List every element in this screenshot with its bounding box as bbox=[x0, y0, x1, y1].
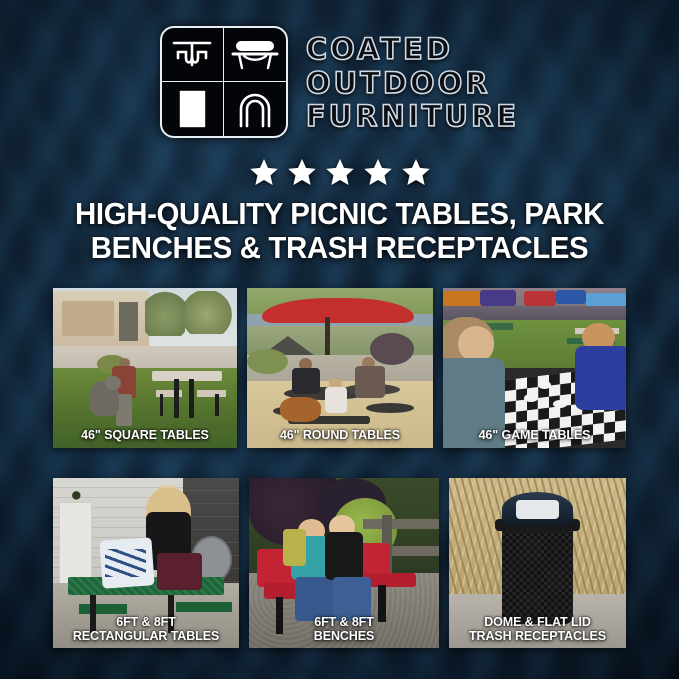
bike-rack-icon bbox=[224, 82, 286, 136]
picnic-table-icon bbox=[162, 28, 224, 82]
tile-caption: 6FT & 8FT RECTANGULAR TABLES bbox=[53, 615, 239, 644]
caption-line-1: 46" SQUARE TABLES bbox=[57, 428, 233, 442]
star-rating bbox=[0, 157, 679, 187]
product-photo-round-tables bbox=[247, 288, 433, 448]
caption-line-1: 46" GAME TABLES bbox=[447, 428, 622, 442]
product-row-1: 46" SQUARE TABLES bbox=[53, 288, 626, 448]
product-row-2: 6FT & 8FT RECTANGULAR TABLES bbox=[53, 478, 626, 648]
wordmark-line-2: OUTDOOR bbox=[306, 67, 491, 100]
product-tile-trash-receptacles[interactable]: DOME & FLAT LID TRASH RECEPTACLES bbox=[449, 478, 626, 648]
star-icon bbox=[401, 157, 431, 187]
caption-line-2: BENCHES bbox=[253, 629, 435, 643]
caption-line-2: TRASH RECEPTACLES bbox=[453, 629, 622, 643]
product-photo-game-tables bbox=[443, 288, 626, 448]
trash-receptacle-icon bbox=[162, 82, 224, 136]
product-grid: 46" SQUARE TABLES bbox=[53, 288, 626, 648]
wordmark-line-3: FURNITURE bbox=[306, 100, 519, 133]
tile-caption: 46" GAME TABLES bbox=[443, 428, 626, 442]
caption-line-1: 6FT & 8FT bbox=[57, 615, 235, 629]
star-icon bbox=[287, 157, 317, 187]
product-photo-square-tables bbox=[53, 288, 237, 448]
product-tile-game-tables[interactable]: 46" GAME TABLES bbox=[443, 288, 626, 448]
headline-line-1: HIGH-QUALITY PICNIC TABLES, PARK bbox=[75, 197, 604, 231]
star-icon bbox=[325, 157, 355, 187]
tile-caption: 46" SQUARE TABLES bbox=[53, 428, 237, 442]
star-icon bbox=[363, 157, 393, 187]
brand-logo: COATED OUTDOOR FURNITURE bbox=[0, 26, 679, 138]
tile-caption: 46" ROUND TABLES bbox=[247, 428, 433, 442]
tile-caption: 6FT & 8FT BENCHES bbox=[249, 615, 439, 644]
logo-mark bbox=[160, 26, 288, 138]
headline-line-2: BENCHES & TRASH RECEPTACLES bbox=[12, 231, 667, 265]
caption-line-2: RECTANGULAR TABLES bbox=[57, 629, 235, 643]
product-tile-square-tables[interactable]: 46" SQUARE TABLES bbox=[53, 288, 237, 448]
page-title: HIGH-QUALITY PICNIC TABLES, PARK BENCHES… bbox=[12, 197, 667, 266]
product-tile-round-tables[interactable]: 46" ROUND TABLES bbox=[247, 288, 433, 448]
caption-line-1: 6FT & 8FT bbox=[253, 615, 435, 629]
star-icon bbox=[249, 157, 279, 187]
product-tile-benches[interactable]: 6FT & 8FT BENCHES bbox=[249, 478, 439, 648]
product-tile-rectangular-tables[interactable]: 6FT & 8FT RECTANGULAR TABLES bbox=[53, 478, 239, 648]
brand-wordmark: COATED OUTDOOR FURNITURE bbox=[306, 31, 519, 133]
poster: COATED OUTDOOR FURNITURE HIGH-QUALITY PI… bbox=[0, 0, 679, 679]
bench-icon bbox=[224, 28, 286, 82]
tile-caption: DOME & FLAT LID TRASH RECEPTACLES bbox=[449, 615, 626, 644]
caption-line-1: 46" ROUND TABLES bbox=[251, 428, 429, 442]
wordmark-line-1: COATED bbox=[306, 33, 453, 66]
caption-line-1: DOME & FLAT LID bbox=[453, 615, 622, 629]
